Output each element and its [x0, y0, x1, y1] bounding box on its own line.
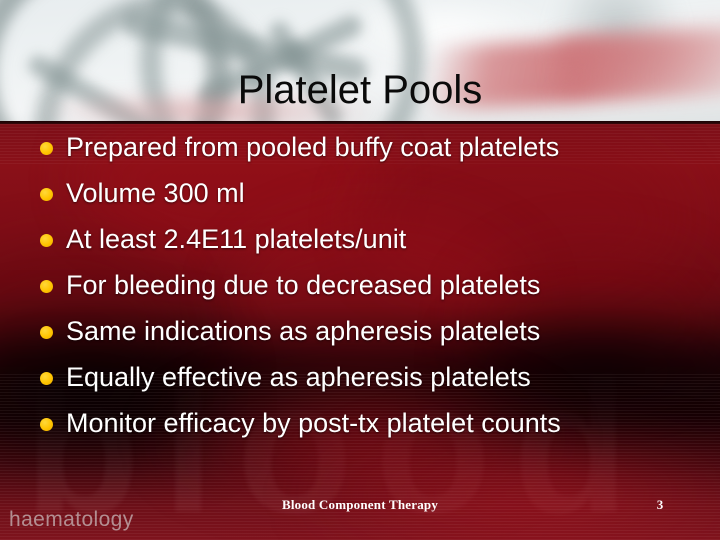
list-item-label: Same indications as apheresis platelets	[66, 316, 540, 346]
list-item-label: Volume 300 ml	[66, 178, 245, 208]
list-item: Prepared from pooled buffy coat platelet…	[0, 124, 720, 170]
list-item-label: Equally effective as apheresis platelets	[66, 362, 531, 392]
disc-bullet-icon	[40, 326, 53, 339]
disc-bullet-icon	[40, 280, 53, 293]
slide-number: 3	[630, 497, 690, 513]
list-item-label: Prepared from pooled buffy coat platelet…	[66, 132, 559, 162]
list-item-label: Monitor efficacy by post-tx platelet cou…	[66, 408, 561, 438]
list-item-label: At least 2.4E11 platelets/unit	[66, 224, 406, 254]
page-title: Platelet Pools	[0, 68, 720, 112]
list-item-label: For bleeding due to decreased platelets	[66, 270, 540, 300]
disc-bullet-icon	[40, 188, 53, 201]
disc-bullet-icon	[40, 418, 53, 431]
list-item: At least 2.4E11 platelets/unit	[0, 216, 720, 262]
disc-bullet-icon	[40, 234, 53, 247]
haematology-watermark: haematology	[9, 508, 134, 532]
list-item: Equally effective as apheresis platelets	[0, 354, 720, 400]
list-item: Same indications as apheresis platelets	[0, 308, 720, 354]
list-item: Monitor efficacy by post-tx platelet cou…	[0, 400, 720, 446]
disc-bullet-icon	[40, 142, 53, 155]
list-item: Volume 300 ml	[0, 170, 720, 216]
slide-bullet-list: Prepared from pooled buffy coat platelet…	[0, 124, 720, 464]
disc-bullet-icon	[40, 372, 53, 385]
list-item: For bleeding due to decreased platelets	[0, 262, 720, 308]
presentation-slide: Platelet Pools blood Prepared from poole…	[0, 0, 720, 540]
